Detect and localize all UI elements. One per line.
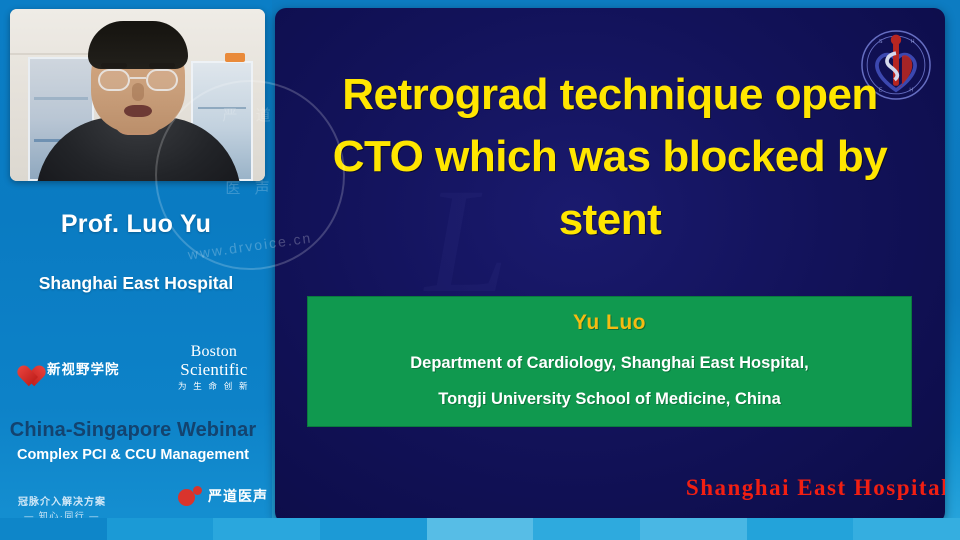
boston-scientific-tagline: 为 生 命 创 新	[178, 382, 250, 391]
sponsor-logo-boston-scientific: Boston Scientific 为 生 命 创 新	[178, 344, 250, 391]
eyeglass-bridge	[130, 77, 146, 79]
bottom-color-strip	[0, 518, 960, 540]
speaker-side-panel: Prof. Luo Yu Shanghai East Hospital 新视野学…	[0, 0, 272, 540]
webinar-subtitle: Complex PCI & CCU Management	[0, 447, 266, 463]
eyeglass-lens-left	[98, 69, 130, 91]
sponsor-tagline-line1: 冠脉介入解决方案	[18, 495, 106, 510]
speaker-nose	[132, 83, 144, 101]
strip-segment	[320, 518, 427, 540]
speaker-video-feed[interactable]	[10, 9, 265, 181]
two-red-dots-icon	[178, 486, 202, 506]
strip-segment	[427, 518, 534, 540]
eyeglass-lens-right	[146, 69, 178, 91]
strip-segment	[747, 518, 854, 540]
presentation-slide[interactable]: L SH EH Retrograd technique open CTO whi…	[275, 8, 945, 523]
speaker-name: Prof. Luo Yu	[0, 210, 272, 239]
slide-department-line2: Tongji University School of Medicine, Ch…	[308, 390, 911, 409]
speaker-affiliation: Shanghai East Hospital	[0, 273, 272, 294]
strip-segment	[107, 518, 214, 540]
sponsor-logo-yandaoyisheng: 严道医声	[178, 486, 268, 506]
strip-segment	[0, 518, 107, 540]
slide-author-box: Yu Luo Department of Cardiology, Shangha…	[307, 296, 912, 427]
slide-author-name: Yu Luo	[308, 311, 911, 335]
slide-hospital-footer: Shanghai East Hospital	[686, 475, 945, 501]
webinar-title: China-Singapore Webinar	[0, 419, 266, 442]
red-heart-icon	[12, 356, 38, 379]
svg-text:H: H	[911, 39, 915, 45]
slide-department-line1: Department of Cardiology, Shanghai East …	[308, 354, 911, 373]
sponsor-logo-xinshiye: 新视野学院	[12, 356, 120, 379]
shelf-object	[225, 53, 245, 62]
speaker-mouth	[124, 105, 152, 117]
boston-scientific-line2: Scientific	[178, 361, 250, 378]
eyebrow-left	[101, 63, 127, 68]
speaker-hair	[88, 21, 188, 69]
boston-scientific-line1: Boston	[178, 344, 250, 360]
screen-capture: Prof. Luo Yu Shanghai East Hospital 新视野学…	[0, 0, 960, 540]
slide-title: Retrograd technique open CTO which was b…	[297, 64, 923, 251]
sponsor-logo-xinshiye-label: 新视野学院	[47, 358, 120, 378]
strip-segment	[213, 518, 320, 540]
svg-text:S: S	[879, 39, 883, 45]
strip-segment	[533, 518, 640, 540]
eyebrow-right	[149, 63, 175, 68]
sponsor-logo-yandaoyisheng-label: 严道医声	[208, 486, 268, 506]
strip-segment	[640, 518, 747, 540]
strip-segment	[853, 518, 960, 540]
